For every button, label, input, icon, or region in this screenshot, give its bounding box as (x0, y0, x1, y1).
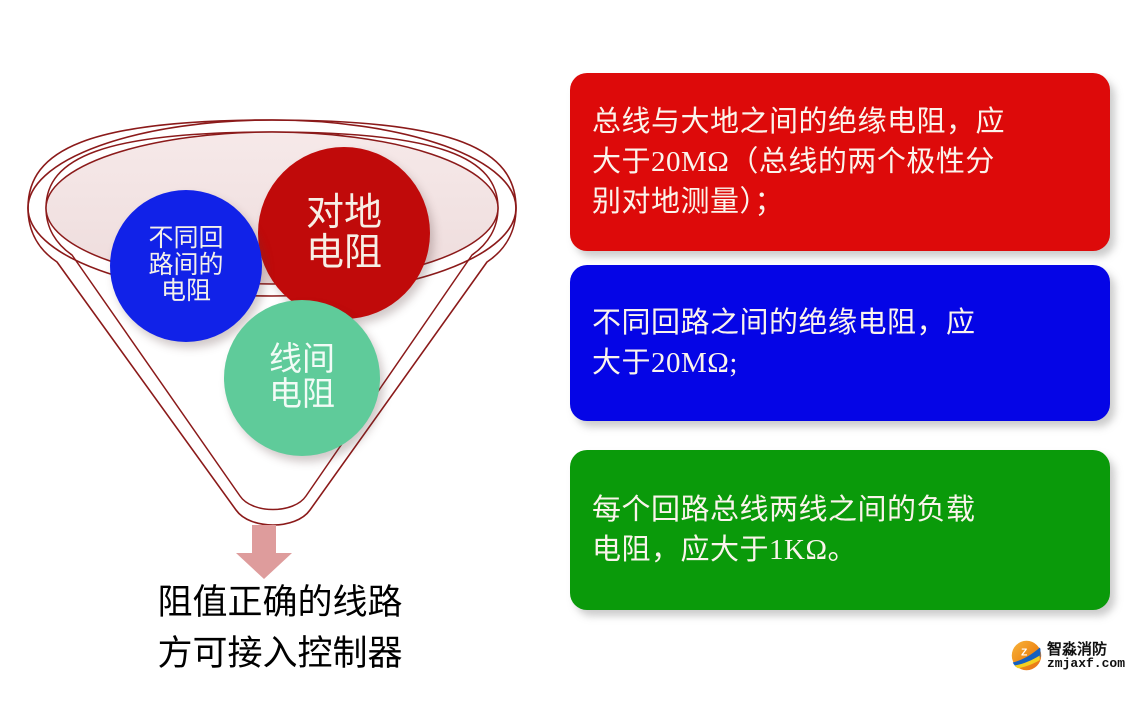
callout-ground-insulation[interactable]: 总线与大地之间的绝缘电阻，应 大于20MΩ（总线的两个极性分 别对地测量）； (570, 73, 1110, 251)
callout-ground-line-3: 别对地测量）； (592, 182, 1088, 222)
brand-logo[interactable]: Z 智淼消防 zmjaxf.com (1011, 640, 1125, 671)
bubble-ground-line-1: 对地 (306, 193, 382, 233)
slide-canvas: 不同回 路间的 电阻 对地 电阻 线间 电阻 阻值正确的线路 方可接入控制器 总… (0, 0, 1138, 702)
bubble-line-resistance[interactable]: 线间 电阻 (224, 300, 380, 456)
funnel-caption: 阻值正确的线路 方可接入控制器 (0, 578, 560, 680)
funnel-caption-line-2: 方可接入控制器 (0, 629, 560, 680)
logo-website-url: zmjaxf.com (1047, 657, 1125, 670)
callout-ground-line-1: 总线与大地之间的绝缘电阻，应 (592, 102, 1088, 142)
bubble-circuit-line-2: 路间的 (148, 253, 223, 280)
callout-circuit-line-1: 不同回路之间的绝缘电阻，应 (592, 303, 1088, 343)
bubble-circuit-line-1: 不同回 (148, 226, 223, 253)
bubble-line-line-1: 线间 (269, 343, 335, 378)
callout-circuit-insulation[interactable]: 不同回路之间的绝缘电阻，应 大于20MΩ; (570, 265, 1110, 421)
bubble-ground-resistance[interactable]: 对地 电阻 (258, 147, 430, 319)
svg-text:Z: Z (1021, 648, 1027, 659)
callout-ground-line-2: 大于20MΩ（总线的两个极性分 (592, 142, 1088, 182)
down-arrow-icon (232, 525, 296, 579)
callout-load-line-1: 每个回路总线两线之间的负载 (592, 490, 1088, 530)
bubble-ground-line-2: 电阻 (306, 233, 382, 273)
bubble-circuit-line-3: 电阻 (161, 279, 211, 306)
funnel-diagram: 不同回 路间的 电阻 对地 电阻 线间 电阻 阻值正确的线路 方可接入控制器 (0, 0, 560, 702)
callout-load-line-2: 电阻，应大于1KΩ。 (592, 530, 1088, 570)
logo-brand-name: 智淼消防 (1047, 642, 1125, 657)
logo-mark-icon: Z (1011, 640, 1042, 671)
bubble-circuit-resistance[interactable]: 不同回 路间的 电阻 (110, 190, 262, 342)
logo-text-block: 智淼消防 zmjaxf.com (1047, 642, 1125, 670)
bubble-line-line-2: 电阻 (269, 378, 335, 413)
callout-load-resistance[interactable]: 每个回路总线两线之间的负载 电阻，应大于1KΩ。 (570, 450, 1110, 610)
down-arrow-shape (236, 525, 292, 579)
callout-circuit-line-2: 大于20MΩ; (592, 343, 1088, 383)
funnel-caption-line-1: 阻值正确的线路 (0, 578, 560, 629)
